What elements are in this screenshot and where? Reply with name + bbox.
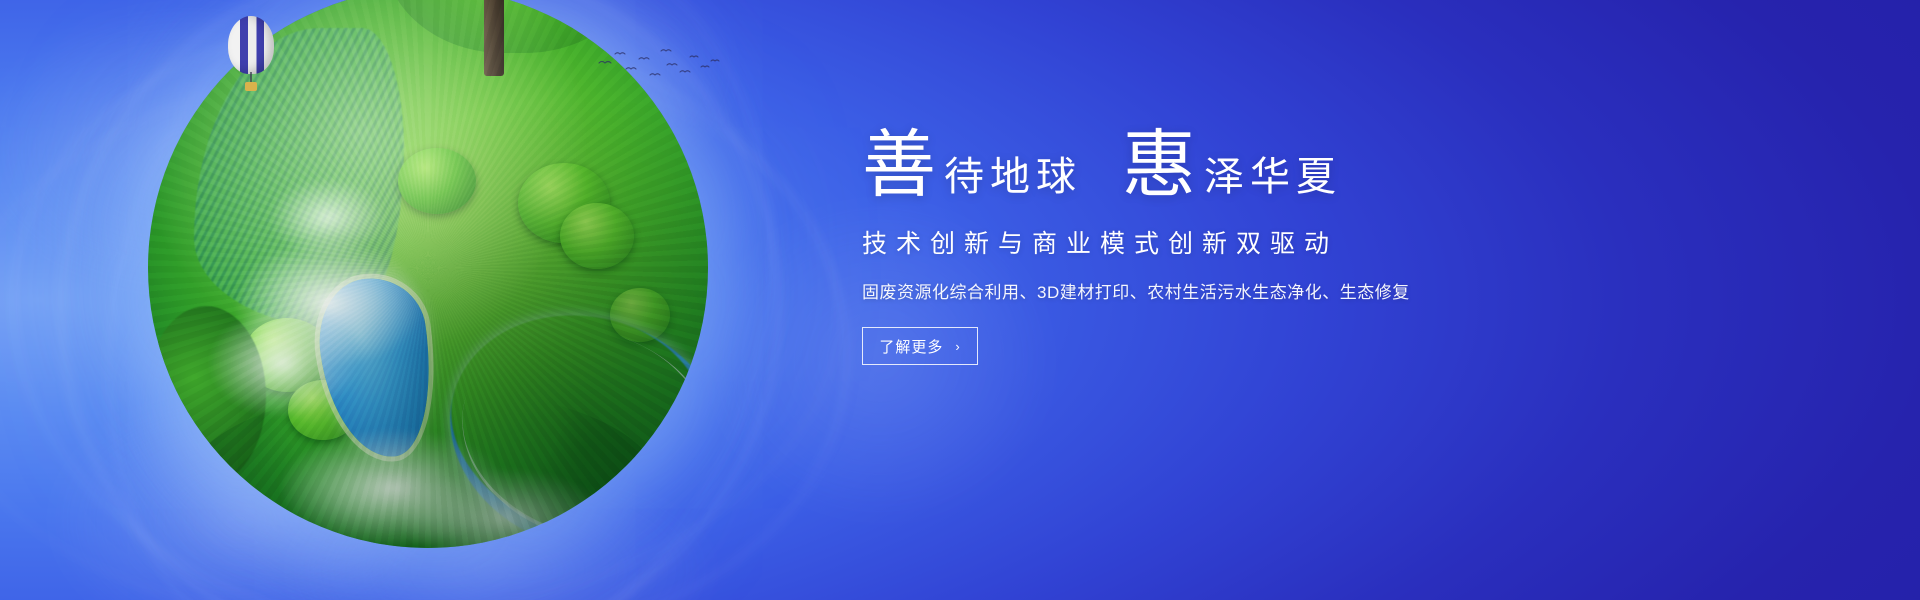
river-highlight (434, 297, 708, 548)
headline-phrase-1: 善 待地球 (862, 130, 1082, 200)
description-text: 固废资源化综合利用、3D建材打印、农村生活污水生态净化、生态修复 (862, 278, 1842, 303)
cloud-puff (278, 428, 508, 548)
tree-bush (518, 163, 610, 243)
headline-rest: 待地球 (944, 157, 1082, 197)
mountain-ridge (194, 28, 404, 328)
learn-more-label: 了解更多 (879, 336, 943, 357)
big-tree-trunk (484, 0, 504, 76)
cloud-puff (398, 468, 608, 548)
lake (311, 271, 443, 464)
cloud-puff (234, 238, 424, 368)
headline-lead-char: 惠 (1122, 130, 1196, 200)
headline-lead-char: 善 (862, 130, 936, 200)
tree-bush (398, 148, 476, 214)
cloud-puff (268, 178, 388, 258)
tree-bush (244, 318, 330, 392)
tree-bush (560, 203, 634, 269)
river (419, 280, 708, 548)
cloud-puff (208, 308, 358, 418)
headline-rest: 泽华夏 (1204, 157, 1342, 197)
headline-phrase-2: 惠 泽华夏 (1122, 130, 1342, 200)
balloon-basket (245, 82, 257, 91)
tree-bush (288, 380, 358, 440)
page-title: 善 待地球 惠 泽华夏 (862, 130, 1842, 200)
hero-copy: 善 待地球 惠 泽华夏 技术创新与商业模式创新双驱动 固废资源化综合利用、3D建… (862, 130, 1842, 365)
foreground-tree (148, 306, 266, 486)
subheadline: 技术创新与商业模式创新双驱动 (862, 224, 1842, 260)
rim-foliage (188, 388, 658, 548)
chevron-right-icon: › (955, 340, 960, 353)
learn-more-button[interactable]: 了解更多 › (862, 327, 978, 365)
hero-banner: 善 待地球 惠 泽华夏 技术创新与商业模式创新双驱动 固废资源化综合利用、3D建… (0, 0, 1920, 600)
balloon-envelope (228, 16, 274, 74)
bird-flock-icon (595, 45, 725, 90)
tree-bush (610, 288, 670, 342)
hot-air-balloon-icon (228, 16, 274, 94)
